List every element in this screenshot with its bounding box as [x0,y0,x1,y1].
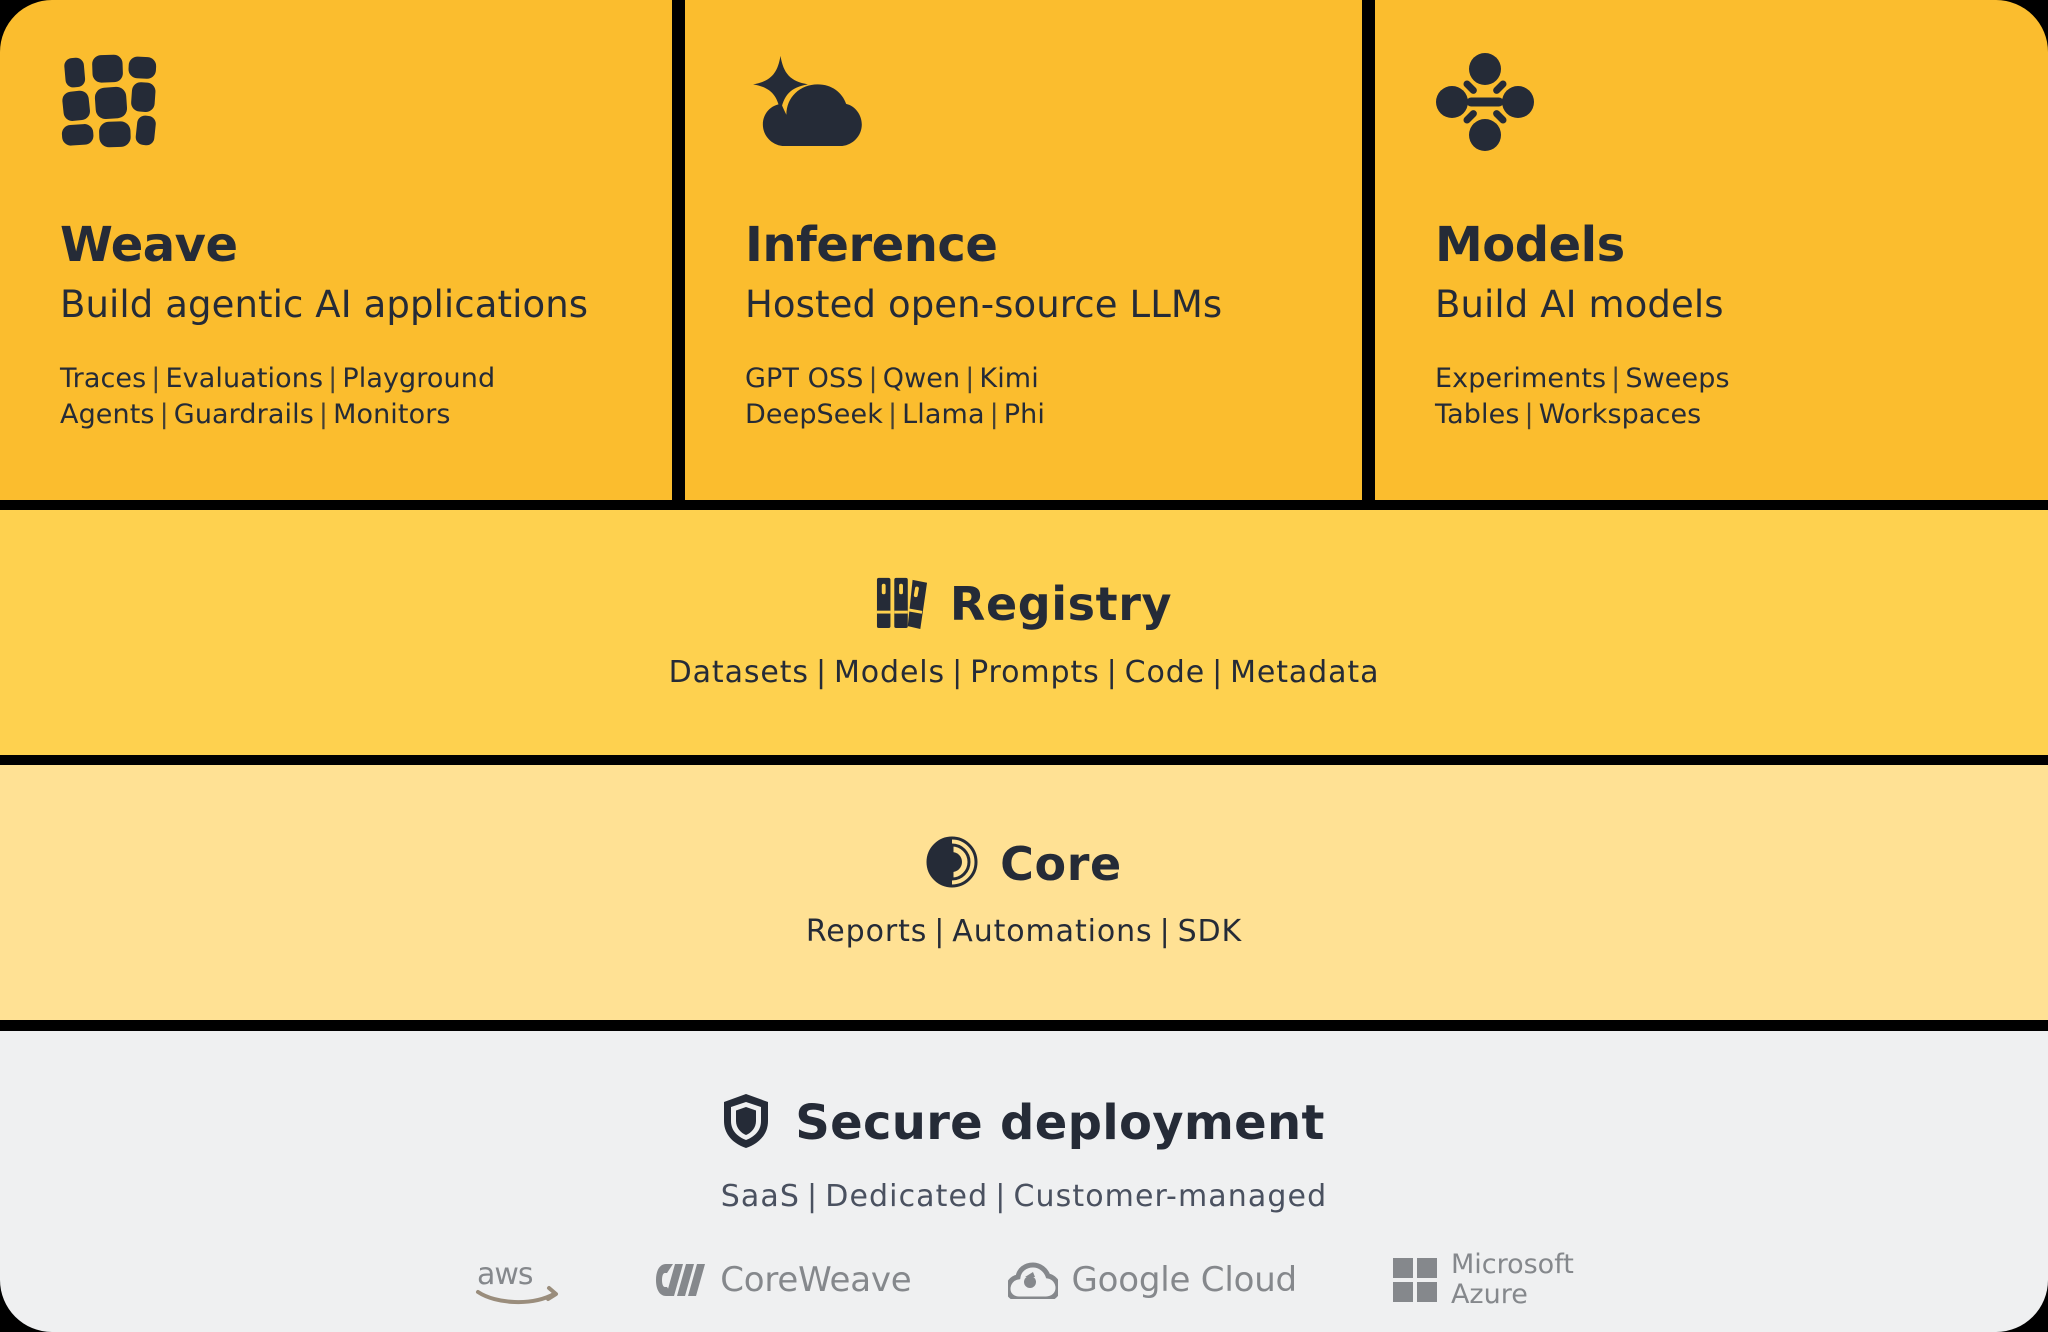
azure-label-line1: Microsoft [1451,1250,1574,1280]
deployment-items: SaaS|Dedicated|Customer-managed [721,1179,1327,1214]
coreweave-label: CoreWeave [720,1260,911,1300]
separator: | [1520,399,1539,430]
google-cloud-label: Google Cloud [1072,1260,1297,1300]
card-features: Traces|Evaluations|Playground Agents|Gua… [60,361,612,434]
feature-item: Sweeps [1625,363,1729,394]
separator: | [1153,914,1178,949]
band-secure-deployment[interactable]: Secure deployment SaaS|Dedicated|Custome… [0,1031,2048,1332]
feature-item: GPT OSS [745,363,864,394]
separator: | [1606,363,1625,394]
feature-item: Prompts [970,655,1100,690]
core-heading: Core [926,836,1122,892]
coreweave-logo: CoreWeave [656,1260,911,1300]
separator: | [809,655,834,690]
feature-item: Phi [1004,399,1045,430]
separator: | [155,399,174,430]
weave-grid-icon [60,52,612,164]
shield-icon [723,1093,769,1153]
feature-item: Evaluations [166,363,324,394]
separator: | [864,363,883,394]
card-title: Models [1435,220,1988,270]
registry-items: Datasets|Models|Prompts|Code|Metadata [669,655,1380,690]
feature-item: Tables [1435,399,1520,430]
band-title: Registry [950,577,1172,631]
azure-label-line2: Azure [1451,1280,1574,1310]
separator: | [985,399,1004,430]
feature-item: Llama [902,399,984,430]
registry-heading: Registry [876,575,1172,633]
svg-text:aws: aws [477,1257,533,1292]
feature-item: Reports [806,914,927,949]
separator: | [883,399,902,430]
feature-item: Metadata [1230,655,1379,690]
separator: | [314,399,333,430]
feature-line: Experiments|Sweeps [1435,361,1988,397]
feature-item: Kimi [979,363,1038,394]
band-title: Core [1000,837,1122,891]
separator: | [800,1179,825,1214]
product-cards-row: Weave Build agentic AI applications Trac… [0,0,2048,500]
card-models[interactable]: Models Build AI models Experiments|Sweep… [1375,0,2048,500]
separator: | [927,914,952,949]
separator: | [960,363,979,394]
band-registry[interactable]: Registry Datasets|Models|Prompts|Code|Me… [0,510,2048,755]
card-features: GPT OSS|Qwen|Kimi DeepSeek|Llama|Phi [745,361,1302,434]
feature-item: SaaS [721,1179,800,1214]
feature-item: Datasets [669,655,809,690]
feature-item: Traces [60,363,146,394]
feature-item: DeepSeek [745,399,883,430]
separator: | [146,363,165,394]
feature-item: Workspaces [1539,399,1702,430]
separator: | [1205,655,1230,690]
model-nodes-icon [1435,52,1988,164]
feature-item: Experiments [1435,363,1606,394]
card-subtitle: Build agentic AI applications [60,284,612,327]
core-circle-icon [926,836,978,892]
band-title: Secure deployment [795,1095,1324,1151]
card-weave[interactable]: Weave Build agentic AI applications Trac… [0,0,672,500]
feature-line: Traces|Evaluations|Playground [60,361,612,397]
feature-item: Qwen [883,363,960,394]
feature-item: SDK [1178,914,1243,949]
feature-item: Guardrails [174,399,314,430]
books-icon [876,575,928,633]
feature-item: Agents [60,399,155,430]
feature-item: Monitors [333,399,451,430]
feature-item: Code [1125,655,1205,690]
aws-logo: aws aws [474,1254,560,1306]
platform-architecture-diagram: Weave Build agentic AI applications Trac… [0,0,2048,1332]
feature-item: Customer-managed [1013,1179,1327,1214]
deployment-heading: Secure deployment [723,1093,1324,1153]
cloud-provider-logos: aws aws CoreWeave [474,1250,1574,1310]
feature-line: DeepSeek|Llama|Phi [745,397,1302,433]
card-title: Weave [60,220,612,270]
feature-item: Dedicated [825,1179,988,1214]
card-features: Experiments|Sweeps Tables|Workspaces [1435,361,1988,434]
feature-item: Models [834,655,945,690]
separator: | [323,363,342,394]
separator: | [988,1179,1013,1214]
google-cloud-logo: Google Cloud [1008,1260,1297,1300]
azure-label: Microsoft Azure [1451,1250,1574,1310]
feature-line: GPT OSS|Qwen|Kimi [745,361,1302,397]
card-title: Inference [745,220,1302,270]
cloud-sparkle-icon [745,52,1302,164]
separator: | [945,655,970,690]
band-core[interactable]: Core Reports|Automations|SDK [0,765,2048,1020]
microsoft-azure-logo: Microsoft Azure [1393,1250,1574,1310]
card-subtitle: Hosted open-source LLMs [745,284,1302,327]
feature-item: Automations [952,914,1152,949]
feature-line: Tables|Workspaces [1435,397,1988,433]
card-inference[interactable]: Inference Hosted open-source LLMs GPT OS… [685,0,1362,500]
feature-line: Agents|Guardrails|Monitors [60,397,612,433]
feature-item: Playground [342,363,495,394]
separator: | [1100,655,1125,690]
card-subtitle: Build AI models [1435,284,1988,327]
core-items: Reports|Automations|SDK [806,914,1242,949]
